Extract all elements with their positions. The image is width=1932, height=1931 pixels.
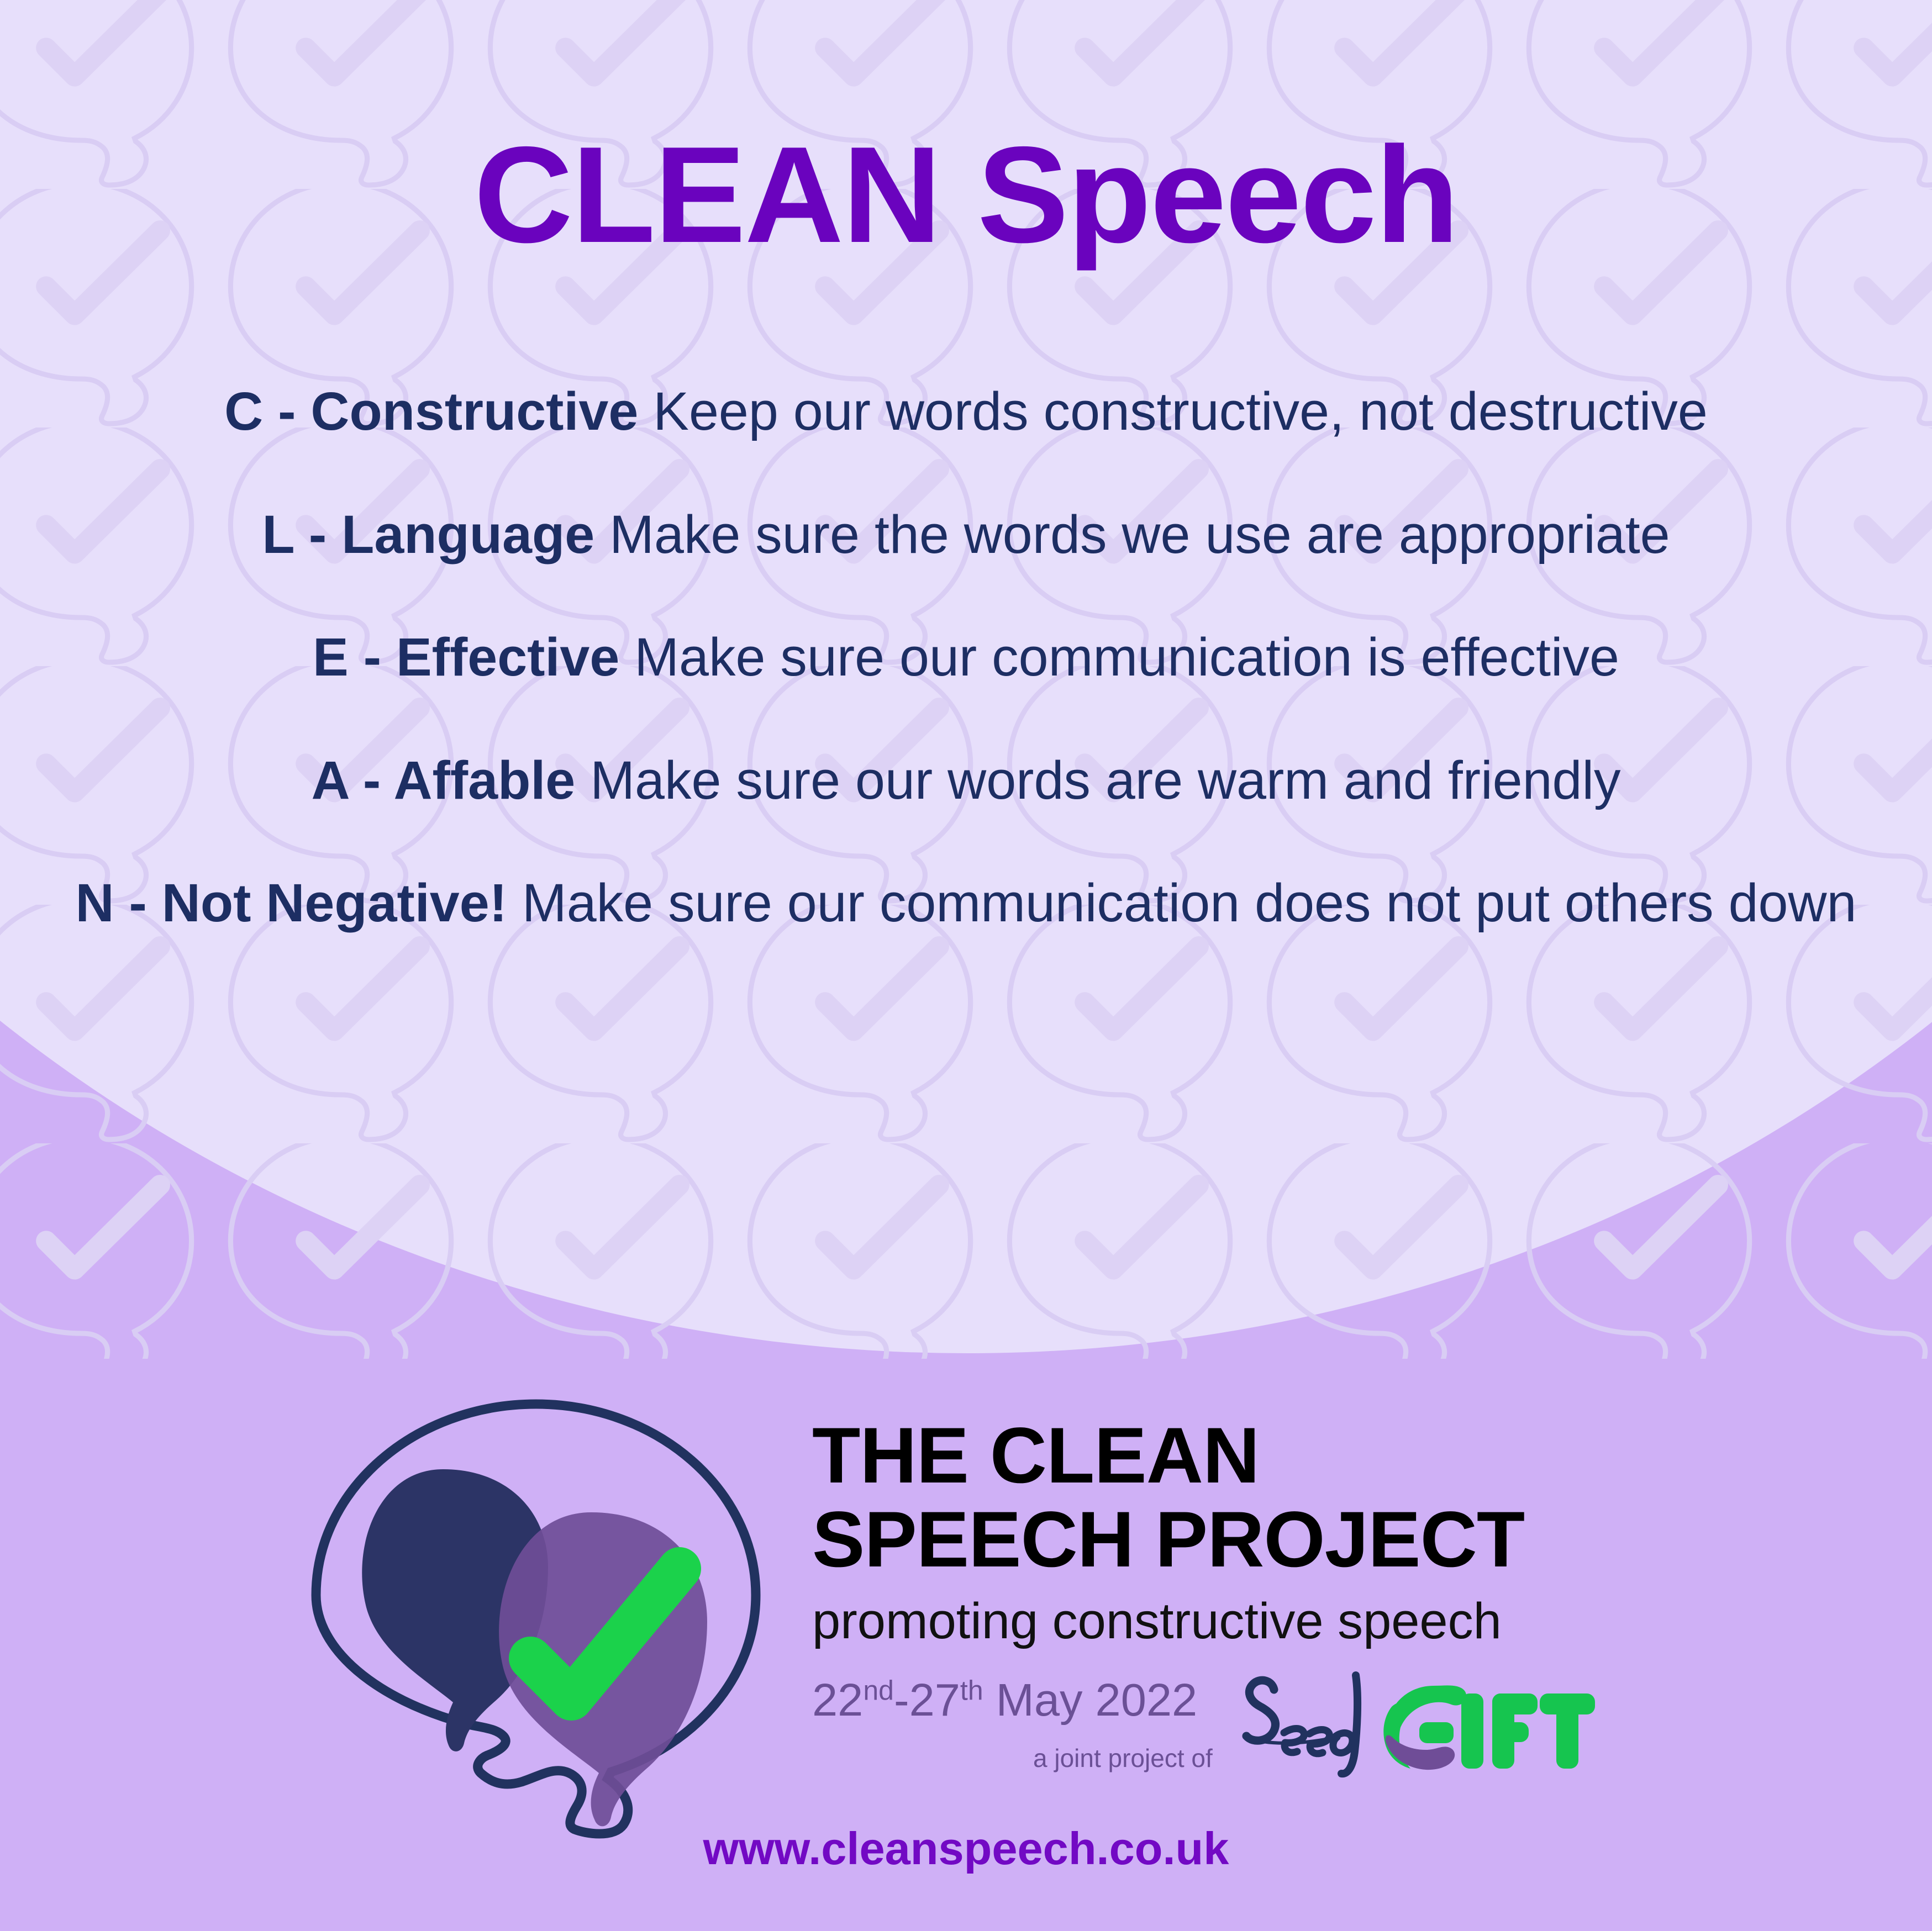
speech-bubble-check-logo-icon — [298, 1392, 773, 1839]
page-title: CLEAN Speech — [0, 126, 1932, 263]
event-dates: 22nd-27th May 2022 — [812, 1677, 1197, 1723]
gift-partner-logo-icon — [1378, 1674, 1599, 1781]
dates-sup1: nd — [863, 1675, 894, 1706]
principle-key: N - Not Negative! — [76, 873, 507, 933]
poster-canvas: CLEAN Speech C - Constructive Keep our w… — [0, 0, 1932, 1931]
principle-line: C - Constructive Keep our words construc… — [55, 381, 1877, 442]
dates-day1: 22 — [812, 1674, 863, 1726]
brand-line-2: SPEECH PROJECT — [812, 1498, 1751, 1582]
principle-key: C - Constructive — [224, 381, 638, 441]
brand-wordmark: THE CLEAN SPEECH PROJECT promoting const… — [812, 1414, 1751, 1647]
principle-line: A - Affable Make sure our words are warm… — [55, 750, 1877, 811]
principle-text: Make sure the words we use are appropria… — [594, 504, 1670, 564]
principle-text: Make sure our words are warm and friendl… — [575, 750, 1620, 810]
principle-key: A - Affable — [311, 750, 575, 810]
principle-text: Make sure our communication does not put… — [507, 873, 1856, 933]
principle-line: E - Effective Make sure our communicatio… — [55, 627, 1877, 688]
credits-row: 22nd-27th May 2022 a joint project of — [812, 1674, 1773, 1801]
website-url[interactable]: www.cleanspeech.co.uk — [0, 1826, 1932, 1871]
dates-rest: May 2022 — [983, 1674, 1198, 1726]
dates-sup2: th — [960, 1675, 983, 1706]
principle-line: N - Not Negative! Make sure our communic… — [55, 873, 1877, 933]
principle-key: L - Language — [262, 504, 594, 564]
principles-list: C - Constructive Keep our words construc… — [55, 381, 1877, 933]
principle-text: Make sure our communication is effective — [619, 627, 1619, 687]
principle-line: L - Language Make sure the words we use … — [55, 504, 1877, 565]
brand-tagline: promoting constructive speech — [812, 1596, 1751, 1647]
footer: THE CLEAN SPEECH PROJECT promoting const… — [0, 1375, 1932, 1931]
principle-key: E - Effective — [313, 627, 619, 687]
dates-sep: -27 — [894, 1674, 960, 1726]
brand-line-1: THE CLEAN — [812, 1414, 1751, 1498]
seed-partner-logo-icon — [1238, 1665, 1387, 1784]
principle-text: Keep our words constructive, not destruc… — [638, 381, 1708, 441]
joint-project-label: a joint project of — [1033, 1745, 1213, 1771]
